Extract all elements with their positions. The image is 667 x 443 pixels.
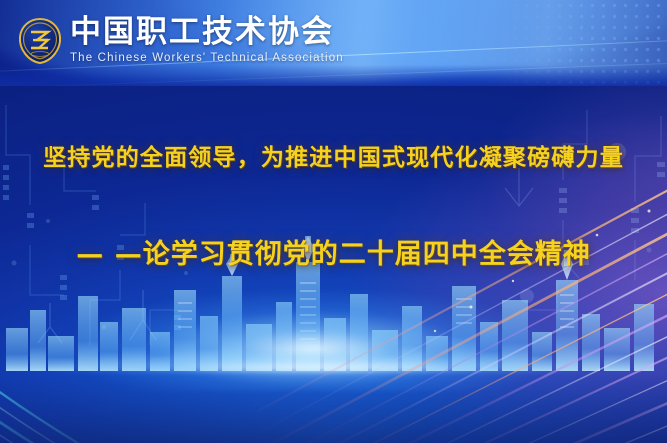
org-name-en: The Chinese Workers' Technical Associati…	[70, 52, 344, 64]
headline: 坚持党的全面领导，为推进中国式现代化凝聚磅礴力量	[0, 138, 667, 172]
promo-banner: 中国职工技术协会 The Chinese Workers' Technical …	[0, 0, 667, 443]
org-name-cn: 中国职工技术协会	[70, 14, 344, 50]
subheadline-text: — —论学习贯彻党的二十届四中全会精神	[76, 232, 590, 271]
bottom-vignette	[0, 373, 667, 443]
subheadline: — —论学习贯彻党的二十届四中全会精神	[0, 232, 667, 271]
association-shield-emblem-icon[interactable]	[17, 17, 63, 65]
header-text-group: 中国职工技术协会 The Chinese Workers' Technical …	[70, 14, 344, 64]
header-bottom-fade	[0, 65, 667, 86]
headline-text: 坚持党的全面领导，为推进中国式现代化凝聚磅礴力量	[43, 138, 624, 172]
